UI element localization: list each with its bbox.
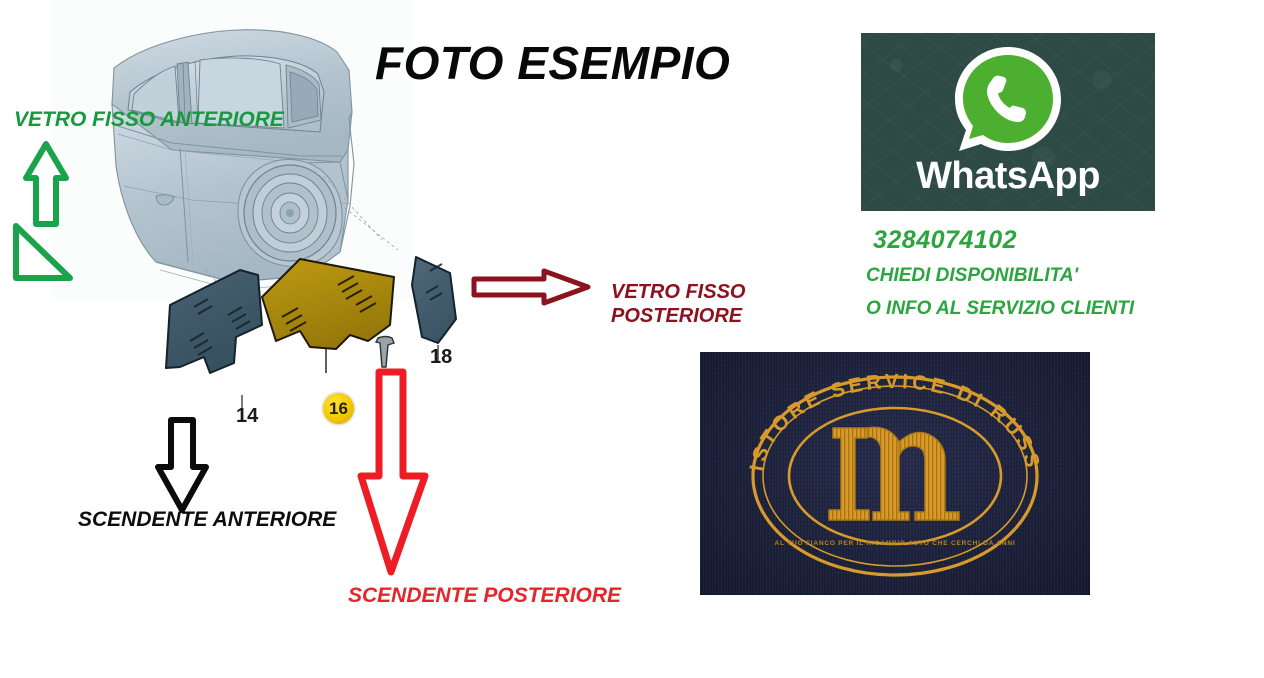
down-arrow-black-icon bbox=[152, 415, 214, 515]
part-number-14: 14 bbox=[236, 405, 258, 428]
part-number-18: 18 bbox=[430, 346, 452, 369]
whatsapp-icon bbox=[949, 41, 1067, 164]
right-arrow-darkred-icon bbox=[470, 267, 592, 307]
poster-canvas: 14 17 18 16 FOTO ESEMPIO VETRO FISSO ANT… bbox=[0, 0, 1264, 678]
annotation-label-vetro-fisso-anteriore: VETRO FISSO ANTERIORE bbox=[14, 108, 284, 132]
up-arrow-green-icon bbox=[8, 138, 78, 283]
page-title: FOTO ESEMPIO bbox=[375, 36, 805, 90]
phone-number[interactable]: 3284074102 bbox=[873, 226, 1017, 255]
shop-logo-outer-text: MRICAMBISTORE SERVICE DI RUSSO MARCO bbox=[700, 352, 1045, 473]
shop-logo-motto: AL TUO FIANCO PER IL RICAMBIO AUTO CHE C… bbox=[774, 540, 1015, 547]
part-number-badge-16: 16 bbox=[323, 393, 354, 424]
annotation-label-line-2: POSTERIORE bbox=[611, 304, 745, 328]
contact-line-1: CHIEDI DISPONIBILITA' bbox=[866, 265, 1078, 287]
whatsapp-wordmark: WhatsApp bbox=[861, 155, 1155, 198]
contact-line-2: O INFO AL SERVIZIO CLIENTI bbox=[866, 298, 1134, 320]
annotation-label-vetro-fisso-posteriore: VETRO FISSO POSTERIORE bbox=[611, 280, 745, 328]
annotation-label-line-1: VETRO FISSO bbox=[611, 280, 745, 304]
svg-text:MRICAMBISTORE SERVICE DI RUSSO: MRICAMBISTORE SERVICE DI RUSSO MARCO bbox=[700, 352, 1045, 473]
shop-logo-photo: MRICAMBISTORE SERVICE DI RUSSO MARCO AL … bbox=[700, 352, 1090, 595]
annotation-label-scendente-anteriore: SCENDENTE ANTERIORE bbox=[78, 508, 336, 532]
annotation-label-scendente-posteriore: SCENDENTE POSTERIORE bbox=[348, 584, 621, 608]
whatsapp-banner: WhatsApp bbox=[861, 33, 1155, 211]
down-arrow-red-icon bbox=[357, 368, 433, 580]
